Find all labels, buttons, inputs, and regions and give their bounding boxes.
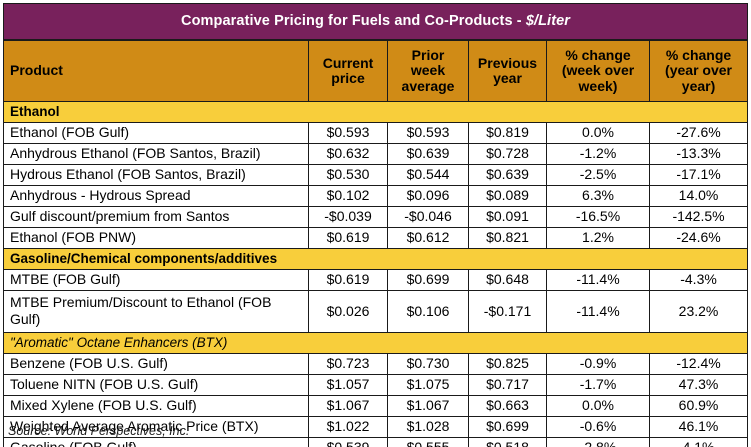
cell-previous-year: $0.089 (469, 186, 547, 207)
cell-product: Gulf discount/premium from Santos (4, 207, 309, 228)
cell-prior-week-average: $0.106 (388, 291, 469, 333)
table-title-unit: $/Liter (526, 13, 570, 29)
section-header-label: Gasoline/Chemical components/additives (4, 249, 748, 270)
cell-prior-week-average: $0.555 (388, 438, 469, 447)
cell-prior-week-average: $0.699 (388, 270, 469, 291)
cell-current-price: $1.067 (309, 396, 388, 417)
cell-previous-year: $0.518 (469, 438, 547, 447)
cell-previous-year: $0.825 (469, 354, 547, 375)
cell-prior-week-average: $0.730 (388, 354, 469, 375)
cell-pct-change-wow: -1.2% (547, 144, 650, 165)
cell-current-price: $0.619 (309, 228, 388, 249)
cell-previous-year: $0.699 (469, 417, 547, 438)
cell-prior-week-average: -$0.046 (388, 207, 469, 228)
cell-pct-change-wow: -0.9% (547, 354, 650, 375)
column-header-pct-change-wow: % change(week overweek) (547, 40, 650, 102)
cell-previous-year: $0.639 (469, 165, 547, 186)
table-row: Benzene (FOB U.S. Gulf)$0.723$0.730$0.82… (4, 354, 748, 375)
cell-pct-change-wow: 0.0% (547, 123, 650, 144)
column-header-current-price: Currentprice (309, 40, 388, 102)
section-header-row: Gasoline/Chemical components/additives (4, 249, 748, 270)
cell-prior-week-average: $0.096 (388, 186, 469, 207)
section-header-row: Ethanol (4, 102, 748, 123)
cell-pct-change-yoy: -24.6% (650, 228, 748, 249)
table-row: Hydrous Ethanol (FOB Santos, Brazil)$0.5… (4, 165, 748, 186)
cell-pct-change-yoy: -4.3% (650, 270, 748, 291)
cell-pct-change-wow: -16.5% (547, 207, 650, 228)
table-row: Ethanol (FOB PNW)$0.619$0.612$0.8211.2%-… (4, 228, 748, 249)
cell-pct-change-wow: -2.8% (547, 438, 650, 447)
cell-pct-change-yoy: -13.3% (650, 144, 748, 165)
cell-current-price: -$0.039 (309, 207, 388, 228)
cell-pct-change-wow: 6.3% (547, 186, 650, 207)
cell-product: Benzene (FOB U.S. Gulf) (4, 354, 309, 375)
cell-product: Gasoline (FOB Gulf) (4, 438, 309, 447)
cell-previous-year: $0.821 (469, 228, 547, 249)
cell-pct-change-wow: 1.2% (547, 228, 650, 249)
cell-current-price: $1.057 (309, 375, 388, 396)
cell-prior-week-average: $0.544 (388, 165, 469, 186)
cell-pct-change-wow: -0.6% (547, 417, 650, 438)
table-row: MTBE (FOB Gulf)$0.619$0.699$0.648-11.4%-… (4, 270, 748, 291)
pricing-table-wrapper: Comparative Pricing for Fuels and Co-Pro… (3, 3, 747, 447)
cell-current-price: $0.530 (309, 165, 388, 186)
cell-prior-week-average: $1.075 (388, 375, 469, 396)
cell-pct-change-yoy: 14.0% (650, 186, 748, 207)
table-row: Anhydrous - Hydrous Spread$0.102$0.096$0… (4, 186, 748, 207)
cell-pct-change-yoy: 47.3% (650, 375, 748, 396)
cell-pct-change-yoy: 4.1% (650, 438, 748, 447)
cell-product: Anhydrous - Hydrous Spread (4, 186, 309, 207)
column-header-previous-year: Previousyear (469, 40, 547, 102)
cell-product: Hydrous Ethanol (FOB Santos, Brazil) (4, 165, 309, 186)
table-row: Gulf discount/premium from Santos-$0.039… (4, 207, 748, 228)
column-header-product: Product (4, 40, 309, 102)
cell-product: MTBE Premium/Discount to Ethanol (FOB Gu… (4, 291, 309, 333)
table-title: Comparative Pricing for Fuels and Co-Pro… (4, 4, 748, 41)
cell-current-price: $0.632 (309, 144, 388, 165)
cell-pct-change-yoy: -17.1% (650, 165, 748, 186)
cell-product: Ethanol (FOB Gulf) (4, 123, 309, 144)
cell-pct-change-wow: -1.7% (547, 375, 650, 396)
cell-previous-year: $0.819 (469, 123, 547, 144)
cell-pct-change-wow: -11.4% (547, 270, 650, 291)
cell-current-price: $0.723 (309, 354, 388, 375)
cell-pct-change-wow: 0.0% (547, 396, 650, 417)
cell-prior-week-average: $0.639 (388, 144, 469, 165)
table-row: Anhydrous Ethanol (FOB Santos, Brazil)$0… (4, 144, 748, 165)
cell-product: Anhydrous Ethanol (FOB Santos, Brazil) (4, 144, 309, 165)
cell-previous-year: $0.663 (469, 396, 547, 417)
cell-pct-change-wow: -2.5% (547, 165, 650, 186)
cell-previous-year: $0.648 (469, 270, 547, 291)
column-header-row: Product Currentprice Priorweekaverage Pr… (4, 40, 748, 102)
table-title-row: Comparative Pricing for Fuels and Co-Pro… (4, 4, 748, 41)
source-note: Source: World Perspectives, Inc. (8, 424, 189, 438)
cell-previous-year: -$0.171 (469, 291, 547, 333)
pricing-table: Comparative Pricing for Fuels and Co-Pro… (3, 3, 748, 447)
cell-pct-change-yoy: 60.9% (650, 396, 748, 417)
cell-product: MTBE (FOB Gulf) (4, 270, 309, 291)
cell-pct-change-wow: -11.4% (547, 291, 650, 333)
cell-product: Toluene NITN (FOB U.S. Gulf) (4, 375, 309, 396)
column-header-prior-week-average: Priorweekaverage (388, 40, 469, 102)
section-header-label: "Aromatic" Octane Enhancers (BTX) (4, 333, 748, 354)
cell-product: Mixed Xylene (FOB U.S. Gulf) (4, 396, 309, 417)
cell-current-price: $0.539 (309, 438, 388, 447)
cell-current-price: $0.102 (309, 186, 388, 207)
table-row: MTBE Premium/Discount to Ethanol (FOB Gu… (4, 291, 748, 333)
table-title-main: Comparative Pricing for Fuels and Co-Pro… (181, 13, 526, 29)
table-row: Toluene NITN (FOB U.S. Gulf)$1.057$1.075… (4, 375, 748, 396)
cell-previous-year: $0.091 (469, 207, 547, 228)
table-row: Mixed Xylene (FOB U.S. Gulf)$1.067$1.067… (4, 396, 748, 417)
cell-prior-week-average: $0.612 (388, 228, 469, 249)
cell-current-price: $0.619 (309, 270, 388, 291)
cell-pct-change-yoy: -142.5% (650, 207, 748, 228)
table-row: Gasoline (FOB Gulf)$0.539$0.555$0.518-2.… (4, 438, 748, 447)
column-header-pct-change-yoy: % change(year overyear) (650, 40, 748, 102)
cell-current-price: $1.022 (309, 417, 388, 438)
cell-prior-week-average: $1.028 (388, 417, 469, 438)
cell-current-price: $0.593 (309, 123, 388, 144)
cell-pct-change-yoy: -12.4% (650, 354, 748, 375)
cell-product: Ethanol (FOB PNW) (4, 228, 309, 249)
cell-previous-year: $0.717 (469, 375, 547, 396)
cell-previous-year: $0.728 (469, 144, 547, 165)
cell-pct-change-yoy: 46.1% (650, 417, 748, 438)
section-header-row: "Aromatic" Octane Enhancers (BTX) (4, 333, 748, 354)
cell-prior-week-average: $1.067 (388, 396, 469, 417)
pricing-table-page: Comparative Pricing for Fuels and Co-Pro… (0, 0, 751, 447)
table-row: Ethanol (FOB Gulf)$0.593$0.593$0.8190.0%… (4, 123, 748, 144)
pricing-table-body: EthanolEthanol (FOB Gulf)$0.593$0.593$0.… (4, 102, 748, 447)
cell-prior-week-average: $0.593 (388, 123, 469, 144)
cell-pct-change-yoy: 23.2% (650, 291, 748, 333)
cell-current-price: $0.026 (309, 291, 388, 333)
section-header-label: Ethanol (4, 102, 748, 123)
cell-pct-change-yoy: -27.6% (650, 123, 748, 144)
